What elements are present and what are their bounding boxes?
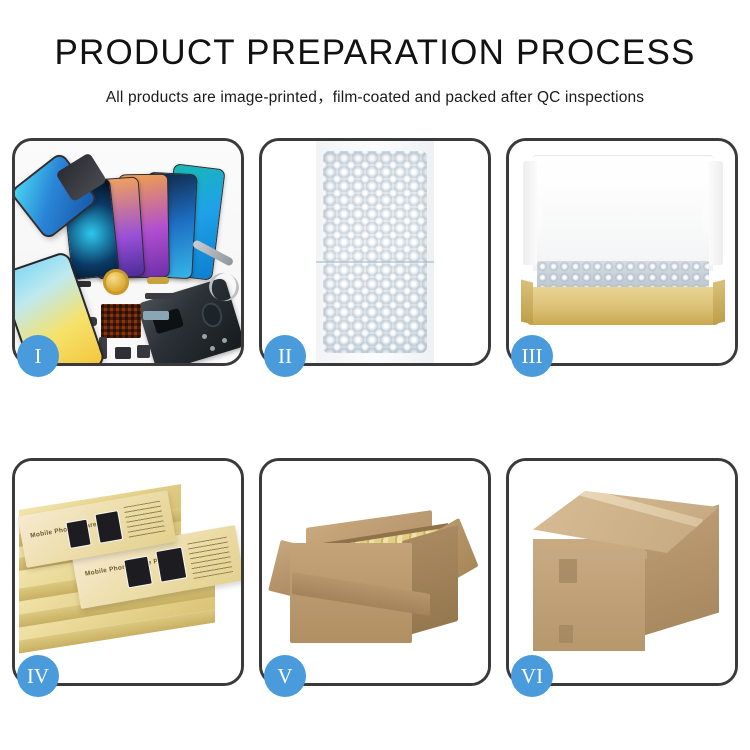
step-image-inner-box	[509, 141, 735, 363]
step-panel-4: Mobile Phone Spare Parts Mobile Phone Sp…	[12, 458, 244, 686]
ic-chip-part	[137, 345, 150, 358]
header: PRODUCT PREPARATION PROCESS All products…	[0, 0, 750, 107]
step-badge-4: IV	[17, 655, 59, 697]
carton-hand-hole	[559, 625, 573, 643]
page-subtitle: All products are image-printed，film-coat…	[0, 85, 750, 107]
step-badge-2: II	[264, 335, 306, 377]
sealed-shipping-carton	[529, 491, 719, 651]
product-preparation-infographic: PRODUCT PREPARATION PROCESS All products…	[0, 0, 750, 750]
box-artwork-screen	[94, 510, 123, 543]
ribbon-cable-part	[145, 293, 175, 299]
step-panel-6: VI	[506, 458, 738, 686]
step-image-phones-and-parts	[15, 141, 241, 363]
step-image-bubble-wrap	[262, 141, 488, 363]
step-panel-3: III	[506, 138, 738, 366]
step-badge-6: VI	[511, 655, 553, 697]
speaker-coil-part	[103, 269, 129, 295]
screw-part	[222, 338, 227, 343]
open-shipping-carton	[290, 517, 458, 643]
carton-hand-hole	[559, 559, 577, 583]
copper-grid-part	[101, 304, 141, 338]
gold-connector-part	[147, 277, 169, 284]
step-panel-5: V	[259, 458, 491, 686]
step-badge-3: III	[511, 335, 553, 377]
foam-liner	[543, 187, 703, 263]
packing-tape	[564, 483, 703, 528]
step-image-sealed-carton	[509, 461, 735, 683]
step-badge-5: V	[264, 655, 306, 697]
box-spec-lines	[188, 537, 233, 579]
packing-tape-edge	[535, 551, 647, 559]
steps-grid: I II III	[12, 138, 738, 690]
shield-plate-part	[143, 311, 169, 320]
step-panel-1: I	[12, 138, 244, 366]
box-spec-lines	[124, 501, 166, 540]
box-artwork-screen	[123, 555, 153, 588]
step-image-carton-filling	[262, 461, 488, 683]
step-panel-2: II	[259, 138, 491, 366]
box-artwork-screen	[155, 547, 187, 582]
screw-part	[210, 346, 215, 351]
wrap-seam-line	[316, 261, 434, 263]
step-badge-1: I	[17, 335, 59, 377]
kraft-box-base	[527, 287, 719, 325]
page-title: PRODUCT PREPARATION PROCESS	[0, 34, 750, 73]
bubble-wrap-pack	[323, 151, 427, 353]
box-stack: Mobile Phone Spare Parts Mobile Phone Sp…	[19, 477, 241, 673]
step-image-stacked-boxes: Mobile Phone Spare Parts Mobile Phone Sp…	[15, 461, 241, 683]
screw-part	[202, 334, 207, 339]
small-chip-part	[115, 347, 131, 359]
